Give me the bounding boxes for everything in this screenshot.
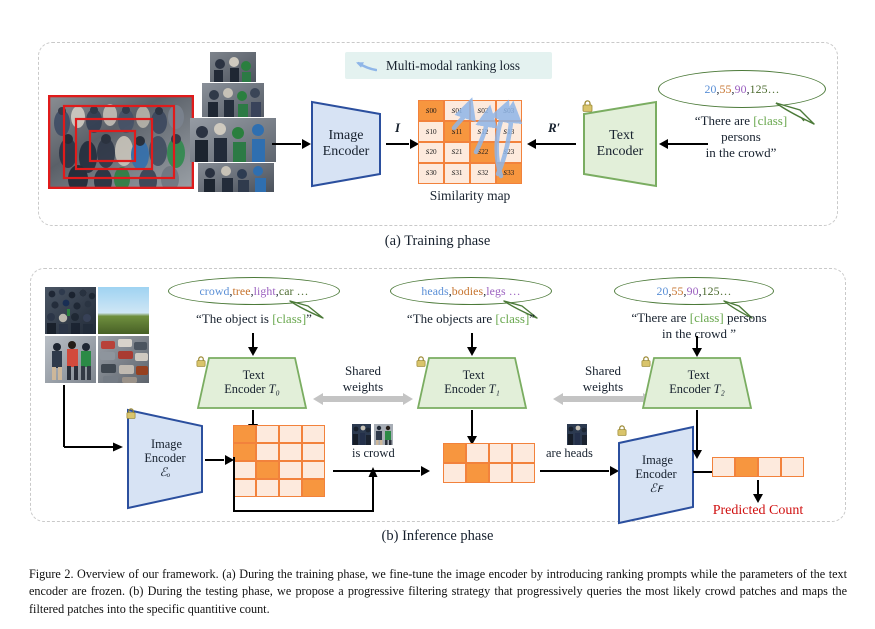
stage1-prompt-post: ”: [306, 311, 312, 326]
similarity-map-grid: s00s01s02s03s10s11s12s13s20s21s22s23s30s…: [418, 100, 522, 184]
bubble-token: light: [254, 284, 276, 299]
stage1-grid-cell: [234, 426, 255, 442]
stage2-grid-cell: [490, 444, 511, 462]
arrow-stage1-to-stage2: [333, 465, 429, 476]
stage2-flow-label: are heads: [546, 446, 593, 461]
training-prompt-line3: in the crowd”: [648, 145, 834, 161]
predicted-count-label: Predicted Count: [688, 503, 828, 519]
stage3-count-bubble: 20, 55, 90, 125…: [614, 277, 774, 305]
arrow-t1-to-grid2: [466, 410, 478, 444]
stage1-class-bubble: crowd, tree, light, car …: [168, 277, 340, 305]
stage1-grid-cell: [303, 426, 324, 442]
similarity-cell: s22: [471, 143, 495, 162]
stage2-prompt-post: ”: [529, 311, 535, 326]
training-patch-stack: [178, 52, 278, 186]
stage1-flow-label: is crowd: [352, 446, 395, 461]
similarity-cell: s13: [497, 122, 521, 141]
bubble-token: legs …: [486, 284, 520, 299]
similarity-cell: s21: [445, 143, 469, 162]
stage3-grid-cell: [759, 458, 780, 476]
rank-symbol-R: R′: [548, 120, 560, 136]
stage2-prompt-class: [class]: [495, 311, 529, 326]
arrow-prompt2-to-text-encoder: [466, 333, 478, 355]
arrow-patches-to-image-encoder-eo: [60, 385, 130, 460]
arrow-prompt1-to-text-encoder: [247, 333, 259, 355]
stage2-grid-cell: [513, 444, 534, 462]
multi-modal-ranking-loss-box: Multi-modal ranking loss: [345, 52, 552, 79]
training-phase-label: (a) Training phase: [0, 233, 875, 250]
arrow-patches-to-image-encoder: [272, 138, 310, 149]
similarity-cell: s32: [471, 164, 495, 183]
stage2-grid-cell: [513, 464, 534, 482]
stage2-grid-cell: [444, 444, 465, 462]
bubble-token: bodies: [452, 284, 483, 299]
stage2-grid-cell: [444, 464, 465, 482]
inference-image-encoder-eo[interactable]: Image Encoder ℰₒ: [126, 408, 204, 510]
inference-phase-label: (b) Inference phase: [0, 528, 875, 545]
arrow-count-row-to-predicted-count: [752, 480, 764, 502]
bubble-token: tree: [233, 284, 251, 299]
bubble-token: 20: [704, 82, 716, 97]
feature-symbol-I: I: [395, 120, 400, 136]
shared-weights-label-1: Shared weights: [320, 363, 406, 394]
training-prompt-pre: “There are: [695, 113, 753, 128]
stage1-prompt: “The object is [class]”: [163, 311, 345, 327]
stage1-grid-cell: [257, 426, 278, 442]
stage3-prompt-post: persons: [724, 310, 767, 325]
stage2-prompt: “The objects are [class]”: [382, 311, 560, 327]
bubble-token: 55: [672, 284, 684, 299]
bubble-token: car …: [279, 284, 309, 299]
stage1-grid-cell: [280, 426, 301, 442]
shared-weights-label-2: Shared weights: [560, 363, 646, 394]
bubble-token: 125…: [750, 82, 780, 97]
inference-text-encoder-t0[interactable]: Text Encoder T₀: [196, 356, 308, 410]
training-prompt-text: “There are [class] persons in the crowd”: [648, 113, 834, 161]
similarity-cell: s10: [419, 122, 443, 141]
training-text-encoder[interactable]: Text Encoder: [582, 100, 658, 188]
arrow-prompt3-to-text-encoder: [691, 336, 703, 356]
bubble-token: 90: [735, 82, 747, 97]
stage1-prompt-class: [class]: [272, 311, 306, 326]
stage1-prompt-pre: “The object is: [196, 311, 272, 326]
stage2-similarity-grid: [443, 443, 535, 483]
bubble-token: 20: [656, 284, 668, 299]
ranking-loss-label: Multi-modal ranking loss: [386, 58, 520, 74]
stage2-prompt-pre: “The objects are: [407, 311, 495, 326]
stage3-prompt-pre: “There are: [631, 310, 689, 325]
similarity-cell: s33: [497, 164, 521, 183]
inference-input-patch-grid: [45, 287, 149, 383]
similarity-cell: s00: [419, 101, 443, 120]
bubble-token: crowd: [199, 284, 229, 299]
bubble-token: 55: [720, 82, 732, 97]
similarity-cell: s03: [497, 101, 521, 120]
arrow-stage2-to-stage3: [540, 465, 618, 476]
figure-caption: Figure 2. Overview of our framework. (a)…: [29, 566, 847, 618]
stage2-class-bubble: heads, bodies, legs …: [390, 277, 552, 305]
similarity-cell: s11: [445, 122, 469, 141]
bubble-token: heads: [421, 284, 448, 299]
inference-text-encoder-t2[interactable]: Text Encoder T₂: [641, 356, 753, 410]
stage3-prompt-class: [class]: [690, 310, 724, 325]
stage1-flow-thumbs: [352, 424, 394, 446]
stage2-grid-cell: [467, 464, 488, 482]
similarity-cell: s01: [445, 101, 469, 120]
inference-image-encoder-ef[interactable]: Image Encoder ℰꜰ: [617, 425, 695, 525]
similarity-cell: s30: [419, 164, 443, 183]
similarity-cell: s23: [497, 143, 521, 162]
stage3-grid-cell: [713, 458, 734, 476]
stage3-grid-cell: [736, 458, 757, 476]
similarity-cell: s31: [445, 164, 469, 183]
arrow-text-encoder-to-simmap: [528, 138, 576, 149]
arrow-t2-to-count-row: [691, 410, 703, 458]
similarity-cell: s20: [419, 143, 443, 162]
stage2-grid-cell: [490, 464, 511, 482]
stage2-grid-cell: [467, 444, 488, 462]
source-crowd-image: [48, 95, 194, 189]
stage2-flow-thumbs: [567, 424, 588, 446]
training-prompt-class: [class]: [753, 113, 787, 128]
similarity-cell: s12: [471, 122, 495, 141]
stage3-grid-cell: [782, 458, 803, 476]
bubble-token: 90: [687, 284, 699, 299]
inference-text-encoder-t1[interactable]: Text Encoder T₁: [416, 356, 528, 410]
shared-weights-arrow-1: [312, 392, 414, 406]
shared-1-line1: Shared: [320, 363, 406, 379]
training-prompt-line2: persons: [648, 129, 834, 145]
stage3-count-row: [712, 457, 804, 477]
curved-arrow-left-icon: [355, 59, 377, 73]
bubble-token: 125…: [702, 284, 732, 299]
arrow-encoder-to-simmap: [386, 138, 418, 149]
training-count-bubble: 20, 55, 90, 125…: [658, 70, 826, 108]
similarity-cell: s02: [471, 101, 495, 120]
training-image-encoder[interactable]: Image Encoder: [310, 100, 382, 188]
shared-2-line1: Shared: [560, 363, 646, 379]
similarity-map-caption: Similarity map: [418, 188, 522, 204]
shared-weights-arrow-2: [552, 392, 654, 406]
